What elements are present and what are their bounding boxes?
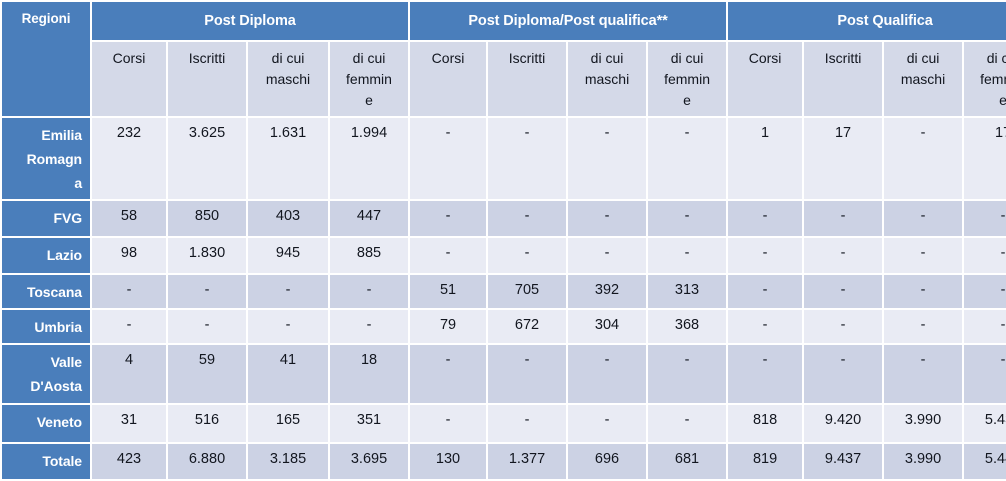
- cell: 423: [92, 444, 166, 479]
- region-label-fvg: FVG: [2, 201, 90, 236]
- region-label-line: Romagn: [27, 151, 82, 167]
- cell: -: [964, 238, 1006, 273]
- group-header-post-qualifica: Post Qualifica: [728, 2, 1006, 40]
- region-label-line: Lazio: [47, 247, 82, 263]
- cell: -: [92, 310, 166, 343]
- table-row: Lazio 98 1.830 945 885 - - - - - - - -: [2, 238, 1006, 273]
- subheader-pd-femmine: di cuifemmine: [330, 42, 408, 116]
- cell: -: [568, 201, 646, 236]
- cell: -: [248, 275, 328, 308]
- cell: -: [804, 310, 882, 343]
- cell: 1.830: [168, 238, 246, 273]
- cell: -: [964, 345, 1006, 403]
- cell: 3.625: [168, 118, 246, 199]
- region-label-line: FVG: [54, 210, 82, 226]
- region-label-line: a: [74, 175, 82, 191]
- subheader-pd-iscritti: Iscritti: [168, 42, 246, 116]
- cell: 3.695: [330, 444, 408, 479]
- cell: 681: [648, 444, 726, 479]
- table-container: Regioni Post Diploma Post Diploma/Post q…: [0, 0, 1006, 444]
- cell: 672: [488, 310, 566, 343]
- region-label-line: Valle: [51, 354, 82, 370]
- group-header-row: Regioni Post Diploma Post Diploma/Post q…: [2, 2, 1006, 40]
- cell: 130: [410, 444, 486, 479]
- cell: 6.880: [168, 444, 246, 479]
- region-label-veneto: Veneto: [2, 405, 90, 442]
- table-head: Regioni Post Diploma Post Diploma/Post q…: [2, 2, 1006, 116]
- cell: -: [648, 201, 726, 236]
- cell: 313: [648, 275, 726, 308]
- region-label-line: Umbria: [34, 319, 82, 335]
- subheader-line: di cui: [671, 50, 704, 66]
- cell: 59: [168, 345, 246, 403]
- cell: 516: [168, 405, 246, 442]
- cell: -: [804, 201, 882, 236]
- cell: 5.447: [964, 444, 1006, 479]
- cell: -: [330, 275, 408, 308]
- subheader-line: Corsi: [113, 50, 146, 66]
- subheader-line: e: [683, 92, 691, 108]
- cell: -: [964, 201, 1006, 236]
- subheader-line: di cui: [272, 50, 305, 66]
- cell: 945: [248, 238, 328, 273]
- cell: -: [168, 275, 246, 308]
- cell: -: [964, 310, 1006, 343]
- cell: -: [884, 238, 962, 273]
- cell: 18: [330, 345, 408, 403]
- subheader-line: femmin: [346, 71, 392, 87]
- column-header-regioni: Regioni: [2, 2, 90, 116]
- sub-header-row: Corsi Iscritti di cuimaschi di cuifemmin…: [2, 42, 1006, 116]
- subheader-pdpq-femmine: di cuifemmine: [648, 42, 726, 116]
- cell: -: [488, 201, 566, 236]
- subheader-line: Corsi: [749, 50, 782, 66]
- cell: -: [884, 201, 962, 236]
- cell: 885: [330, 238, 408, 273]
- subheader-line: di cui: [987, 50, 1006, 66]
- subheader-line: femmin: [664, 71, 710, 87]
- region-label-lazio: Lazio: [2, 238, 90, 273]
- cell: 79: [410, 310, 486, 343]
- cell: 3.990: [884, 405, 962, 442]
- cell: 850: [168, 201, 246, 236]
- cell: -: [92, 275, 166, 308]
- cell: -: [330, 310, 408, 343]
- subheader-line: maschi: [266, 71, 310, 87]
- cell: 304: [568, 310, 646, 343]
- table-body: EmiliaRomagna 232 3.625 1.631 1.994 - - …: [2, 118, 1006, 479]
- cell: -: [728, 201, 802, 236]
- cell: -: [488, 118, 566, 199]
- cell: 232: [92, 118, 166, 199]
- cell: -: [568, 118, 646, 199]
- subheader-line: maschi: [585, 71, 629, 87]
- cell: -: [884, 345, 962, 403]
- cell: -: [728, 275, 802, 308]
- table-row: Umbria - - - - 79 672 304 368 - - - -: [2, 310, 1006, 343]
- cell: 3.185: [248, 444, 328, 479]
- cell: -: [964, 275, 1006, 308]
- cell: -: [804, 275, 882, 308]
- table-row: FVG 58 850 403 447 - - - - - - - -: [2, 201, 1006, 236]
- region-label-emilia-romagna: EmiliaRomagna: [2, 118, 90, 199]
- cell: -: [648, 238, 726, 273]
- cell: 165: [248, 405, 328, 442]
- cell: -: [248, 310, 328, 343]
- cell: 1.377: [488, 444, 566, 479]
- subheader-pq-maschi: di cuimaschi: [884, 42, 962, 116]
- cell: 705: [488, 275, 566, 308]
- cell: 819: [728, 444, 802, 479]
- subheader-line: di cui: [591, 50, 624, 66]
- subheader-line: di cui: [353, 50, 386, 66]
- cell: 41: [248, 345, 328, 403]
- region-label-umbria: Umbria: [2, 310, 90, 343]
- cell: -: [410, 345, 486, 403]
- subheader-line: Iscritti: [825, 50, 862, 66]
- cell: 351: [330, 405, 408, 442]
- cell: -: [884, 310, 962, 343]
- region-label-valle-daosta: ValleD'Aosta: [2, 345, 90, 403]
- table-row: Veneto 31 516 165 351 - - - - 818 9.420 …: [2, 405, 1006, 442]
- cell: 1: [728, 118, 802, 199]
- cell: 392: [568, 275, 646, 308]
- cell: -: [884, 118, 962, 199]
- region-label-line: D'Aosta: [30, 378, 82, 394]
- cell: -: [410, 405, 486, 442]
- cell: 58: [92, 201, 166, 236]
- cell: 696: [568, 444, 646, 479]
- subheader-pd-maschi: di cuimaschi: [248, 42, 328, 116]
- region-label-line: Emilia: [41, 127, 82, 143]
- cell: 403: [248, 201, 328, 236]
- group-header-post-diploma-post-qualifica: Post Diploma/Post qualifica**: [410, 2, 726, 40]
- cell: -: [648, 345, 726, 403]
- region-label-line: Totale: [42, 453, 82, 469]
- subheader-pq-iscritti: Iscritti: [804, 42, 882, 116]
- cell: -: [568, 238, 646, 273]
- subheader-line: Iscritti: [509, 50, 546, 66]
- group-header-post-diploma: Post Diploma: [92, 2, 408, 40]
- region-label-line: Veneto: [37, 414, 82, 430]
- cell: 98: [92, 238, 166, 273]
- cell: -: [728, 345, 802, 403]
- cell: 368: [648, 310, 726, 343]
- cell: -: [488, 345, 566, 403]
- subheader-line: di cui: [907, 50, 940, 66]
- cell: 17: [964, 118, 1006, 199]
- table-row: Toscana - - - - 51 705 392 313 - - - -: [2, 275, 1006, 308]
- cell: 4: [92, 345, 166, 403]
- cell: -: [410, 238, 486, 273]
- subheader-line: Iscritti: [189, 50, 226, 66]
- cell: -: [568, 345, 646, 403]
- subheader-line: e: [999, 92, 1006, 108]
- cell: 447: [330, 201, 408, 236]
- region-label-totale: Totale: [2, 444, 90, 479]
- subheader-line: e: [365, 92, 373, 108]
- cell: -: [488, 238, 566, 273]
- subheader-line: femmin: [980, 71, 1006, 87]
- cell: 17: [804, 118, 882, 199]
- subheader-pd-corsi: Corsi: [92, 42, 166, 116]
- subheader-pdpq-iscritti: Iscritti: [488, 42, 566, 116]
- cell: -: [804, 238, 882, 273]
- cell: 51: [410, 275, 486, 308]
- cell: -: [728, 238, 802, 273]
- cell: -: [884, 275, 962, 308]
- subheader-line: maschi: [901, 71, 945, 87]
- cell: -: [488, 405, 566, 442]
- cell: -: [648, 118, 726, 199]
- cell: 31: [92, 405, 166, 442]
- regions-training-table: Regioni Post Diploma Post Diploma/Post q…: [0, 0, 1006, 481]
- table-row-total: Totale 423 6.880 3.185 3.695 130 1.377 6…: [2, 444, 1006, 479]
- subheader-pdpq-corsi: Corsi: [410, 42, 486, 116]
- cell: 1.631: [248, 118, 328, 199]
- table-row: ValleD'Aosta 4 59 41 18 - - - - - - - -: [2, 345, 1006, 403]
- cell: -: [168, 310, 246, 343]
- table-row: EmiliaRomagna 232 3.625 1.631 1.994 - - …: [2, 118, 1006, 199]
- subheader-pq-femmine: di cuifemmine: [964, 42, 1006, 116]
- cell: -: [728, 310, 802, 343]
- cell: -: [410, 201, 486, 236]
- cell: 9.420: [804, 405, 882, 442]
- region-label-line: Toscana: [27, 284, 82, 300]
- cell: -: [804, 345, 882, 403]
- cell: 1.994: [330, 118, 408, 199]
- cell: 3.990: [884, 444, 962, 479]
- subheader-line: Corsi: [432, 50, 465, 66]
- cell: 818: [728, 405, 802, 442]
- cell: 5.430: [964, 405, 1006, 442]
- region-label-toscana: Toscana: [2, 275, 90, 308]
- cell: -: [568, 405, 646, 442]
- cell: 9.437: [804, 444, 882, 479]
- subheader-pdpq-maschi: di cuimaschi: [568, 42, 646, 116]
- cell: -: [648, 405, 726, 442]
- cell: -: [410, 118, 486, 199]
- subheader-pq-corsi: Corsi: [728, 42, 802, 116]
